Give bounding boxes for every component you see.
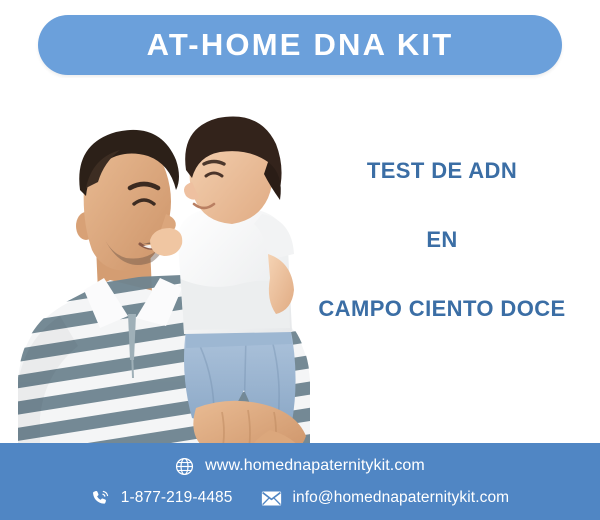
headline-line-2: EN xyxy=(292,229,592,251)
family-photo xyxy=(0,78,330,466)
phone-item[interactable]: 1-877-219-4485 xyxy=(91,489,233,508)
globe-icon xyxy=(175,457,194,476)
headline-block: TEST DE ADN EN CAMPO CIENTO DOCE xyxy=(292,160,592,320)
headline-line-1: TEST DE ADN xyxy=(292,160,592,182)
dna-kit-flyer: AT-HOME DNA KIT xyxy=(0,0,600,520)
family-photo-illustration xyxy=(0,78,330,466)
website-label: www.homednapaternitykit.com xyxy=(205,457,425,475)
header-banner: AT-HOME DNA KIT xyxy=(38,15,562,75)
website-item[interactable]: www.homednapaternitykit.com xyxy=(175,457,425,476)
envelope-icon xyxy=(261,490,282,507)
headline-line-3: CAMPO CIENTO DOCE xyxy=(292,298,592,320)
page-title: AT-HOME DNA KIT xyxy=(147,27,454,63)
footer-contact-row: 1-877-219-4485 info@homednapaternitykit.… xyxy=(0,485,600,511)
phone-label: 1-877-219-4485 xyxy=(121,489,233,507)
phone-icon xyxy=(91,489,110,508)
footer-contact-bar: www.homednapaternitykit.com 1-877-219-44… xyxy=(0,443,600,520)
email-label: info@homednapaternitykit.com xyxy=(293,489,510,507)
footer-website-row: www.homednapaternitykit.com xyxy=(0,453,600,479)
email-item[interactable]: info@homednapaternitykit.com xyxy=(261,489,510,507)
